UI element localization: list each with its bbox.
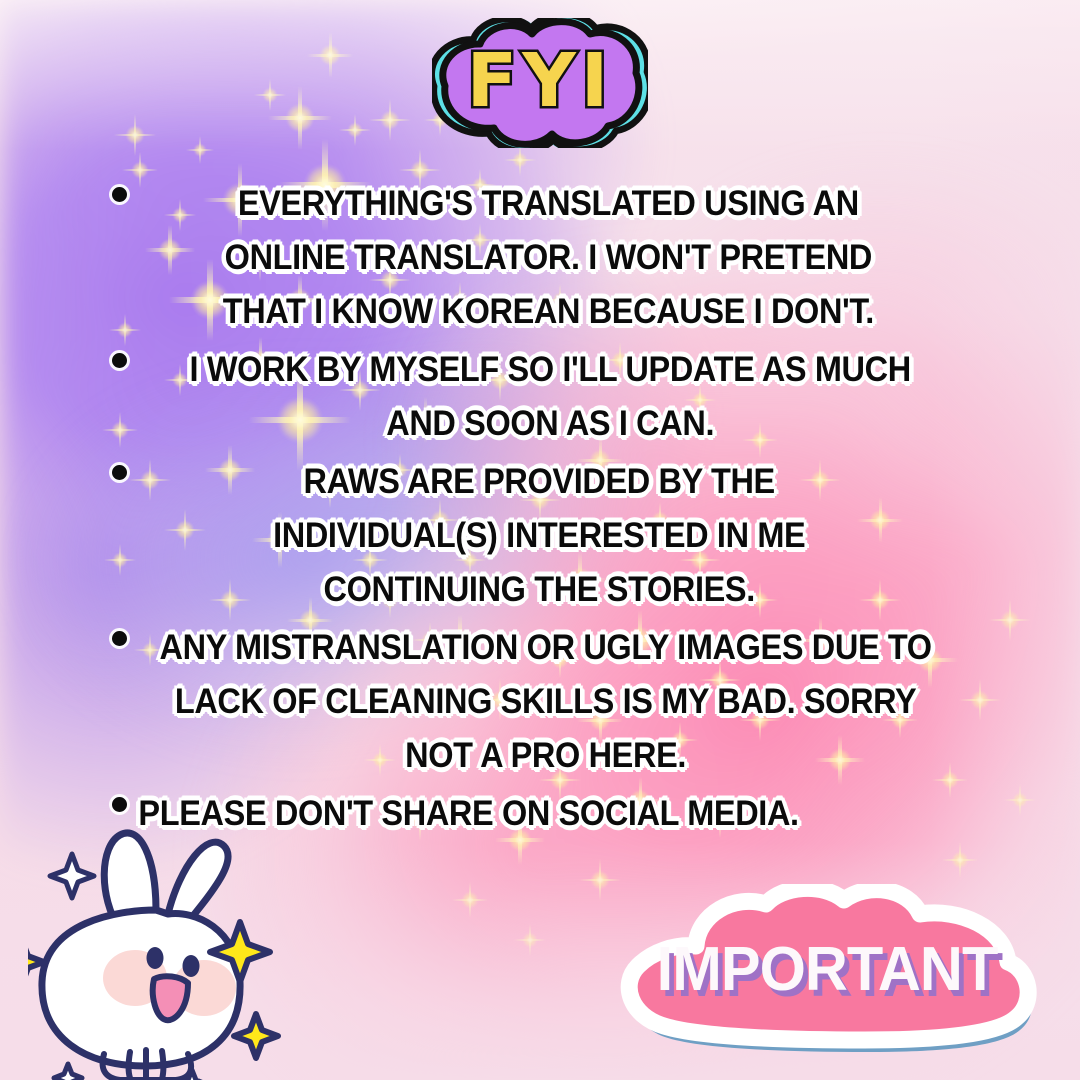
bunny-icon xyxy=(28,818,328,1080)
bunny-mouth-icon xyxy=(153,976,188,1020)
sparkle-icon xyxy=(50,854,94,898)
sparkle-icon xyxy=(286,104,314,132)
list-item-text: EVERYTHING'S TRANSLATED USING AN ONLINE … xyxy=(100,176,966,338)
sparkle-icon xyxy=(513,153,527,167)
fyi-poster: FYI EVERYTHING'S TRANSLATED USING AN ONL… xyxy=(0,0,1080,1080)
important-badge-label: IMPORTANT xyxy=(621,934,1034,1005)
list-item: ANY MISTRANSLATION OR UGLY IMAGES DUE TO… xyxy=(100,620,1046,782)
sparkle-icon xyxy=(381,111,399,129)
list-item-text: I WORK BY MYSELF SO I'LL UPDATE AS MUCH … xyxy=(100,342,966,450)
sparkle-icon xyxy=(591,871,609,889)
sparkle-icon xyxy=(263,88,277,102)
list-item-text: RAWS ARE PROVIDED BY THE INDIVIDUAL(S) I… xyxy=(100,454,966,616)
bunny-mascot xyxy=(28,818,328,1080)
list-item: RAWS ARE PROVIDED BY THE INDIVIDUAL(S) I… xyxy=(100,454,1046,616)
sparkle-icon xyxy=(523,933,537,947)
sparkle-icon xyxy=(348,123,362,137)
sparkle-icon xyxy=(234,1014,278,1058)
important-badge: IMPORTANT xyxy=(612,884,1042,1062)
fyi-badge: FYI xyxy=(432,18,648,148)
sparkle-icon xyxy=(320,45,340,65)
sparkle-icon xyxy=(126,126,144,144)
fyi-badge-label: FYI xyxy=(432,16,648,146)
sparkle-icon xyxy=(194,144,206,156)
bunny-eye-left-icon xyxy=(147,947,164,969)
sparkle-icon xyxy=(952,852,968,868)
sparkle-icon xyxy=(462,892,478,908)
list-item: I WORK BY MYSELF SO I'LL UPDATE AS MUCH … xyxy=(100,342,1046,450)
notes-list: EVERYTHING'S TRANSLATED USING AN ONLINE … xyxy=(100,176,1046,844)
bunny-eye-right-icon xyxy=(183,955,200,977)
list-item: EVERYTHING'S TRANSLATED USING AN ONLINE … xyxy=(100,176,1046,338)
list-item-text: ANY MISTRANSLATION OR UGLY IMAGES DUE TO… xyxy=(100,620,966,782)
sparkle-icon xyxy=(54,1064,82,1080)
